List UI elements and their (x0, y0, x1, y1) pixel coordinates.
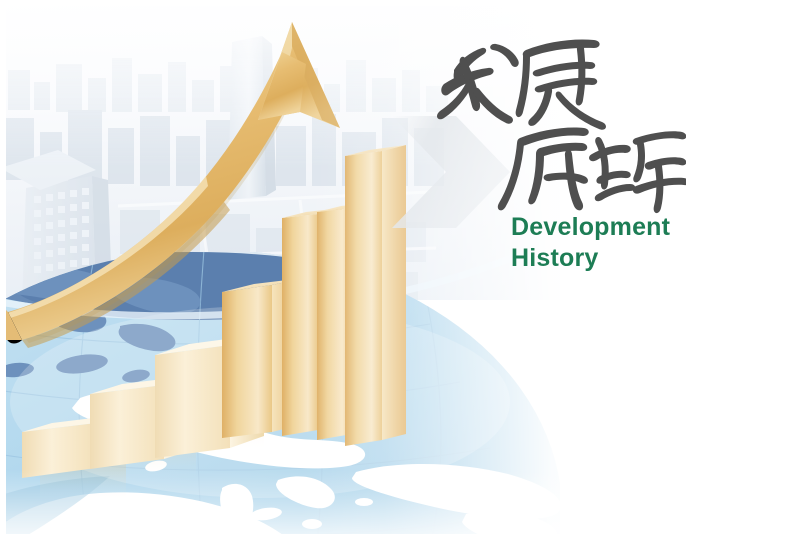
title-english: Development History (511, 212, 670, 274)
frame-bottom (0, 534, 800, 540)
development-history-banner: Development History (0, 0, 800, 540)
title-block: Development History (418, 0, 800, 540)
calligraphy-line-2 (496, 118, 686, 223)
frame-top (0, 0, 800, 6)
frame-left (0, 0, 6, 540)
